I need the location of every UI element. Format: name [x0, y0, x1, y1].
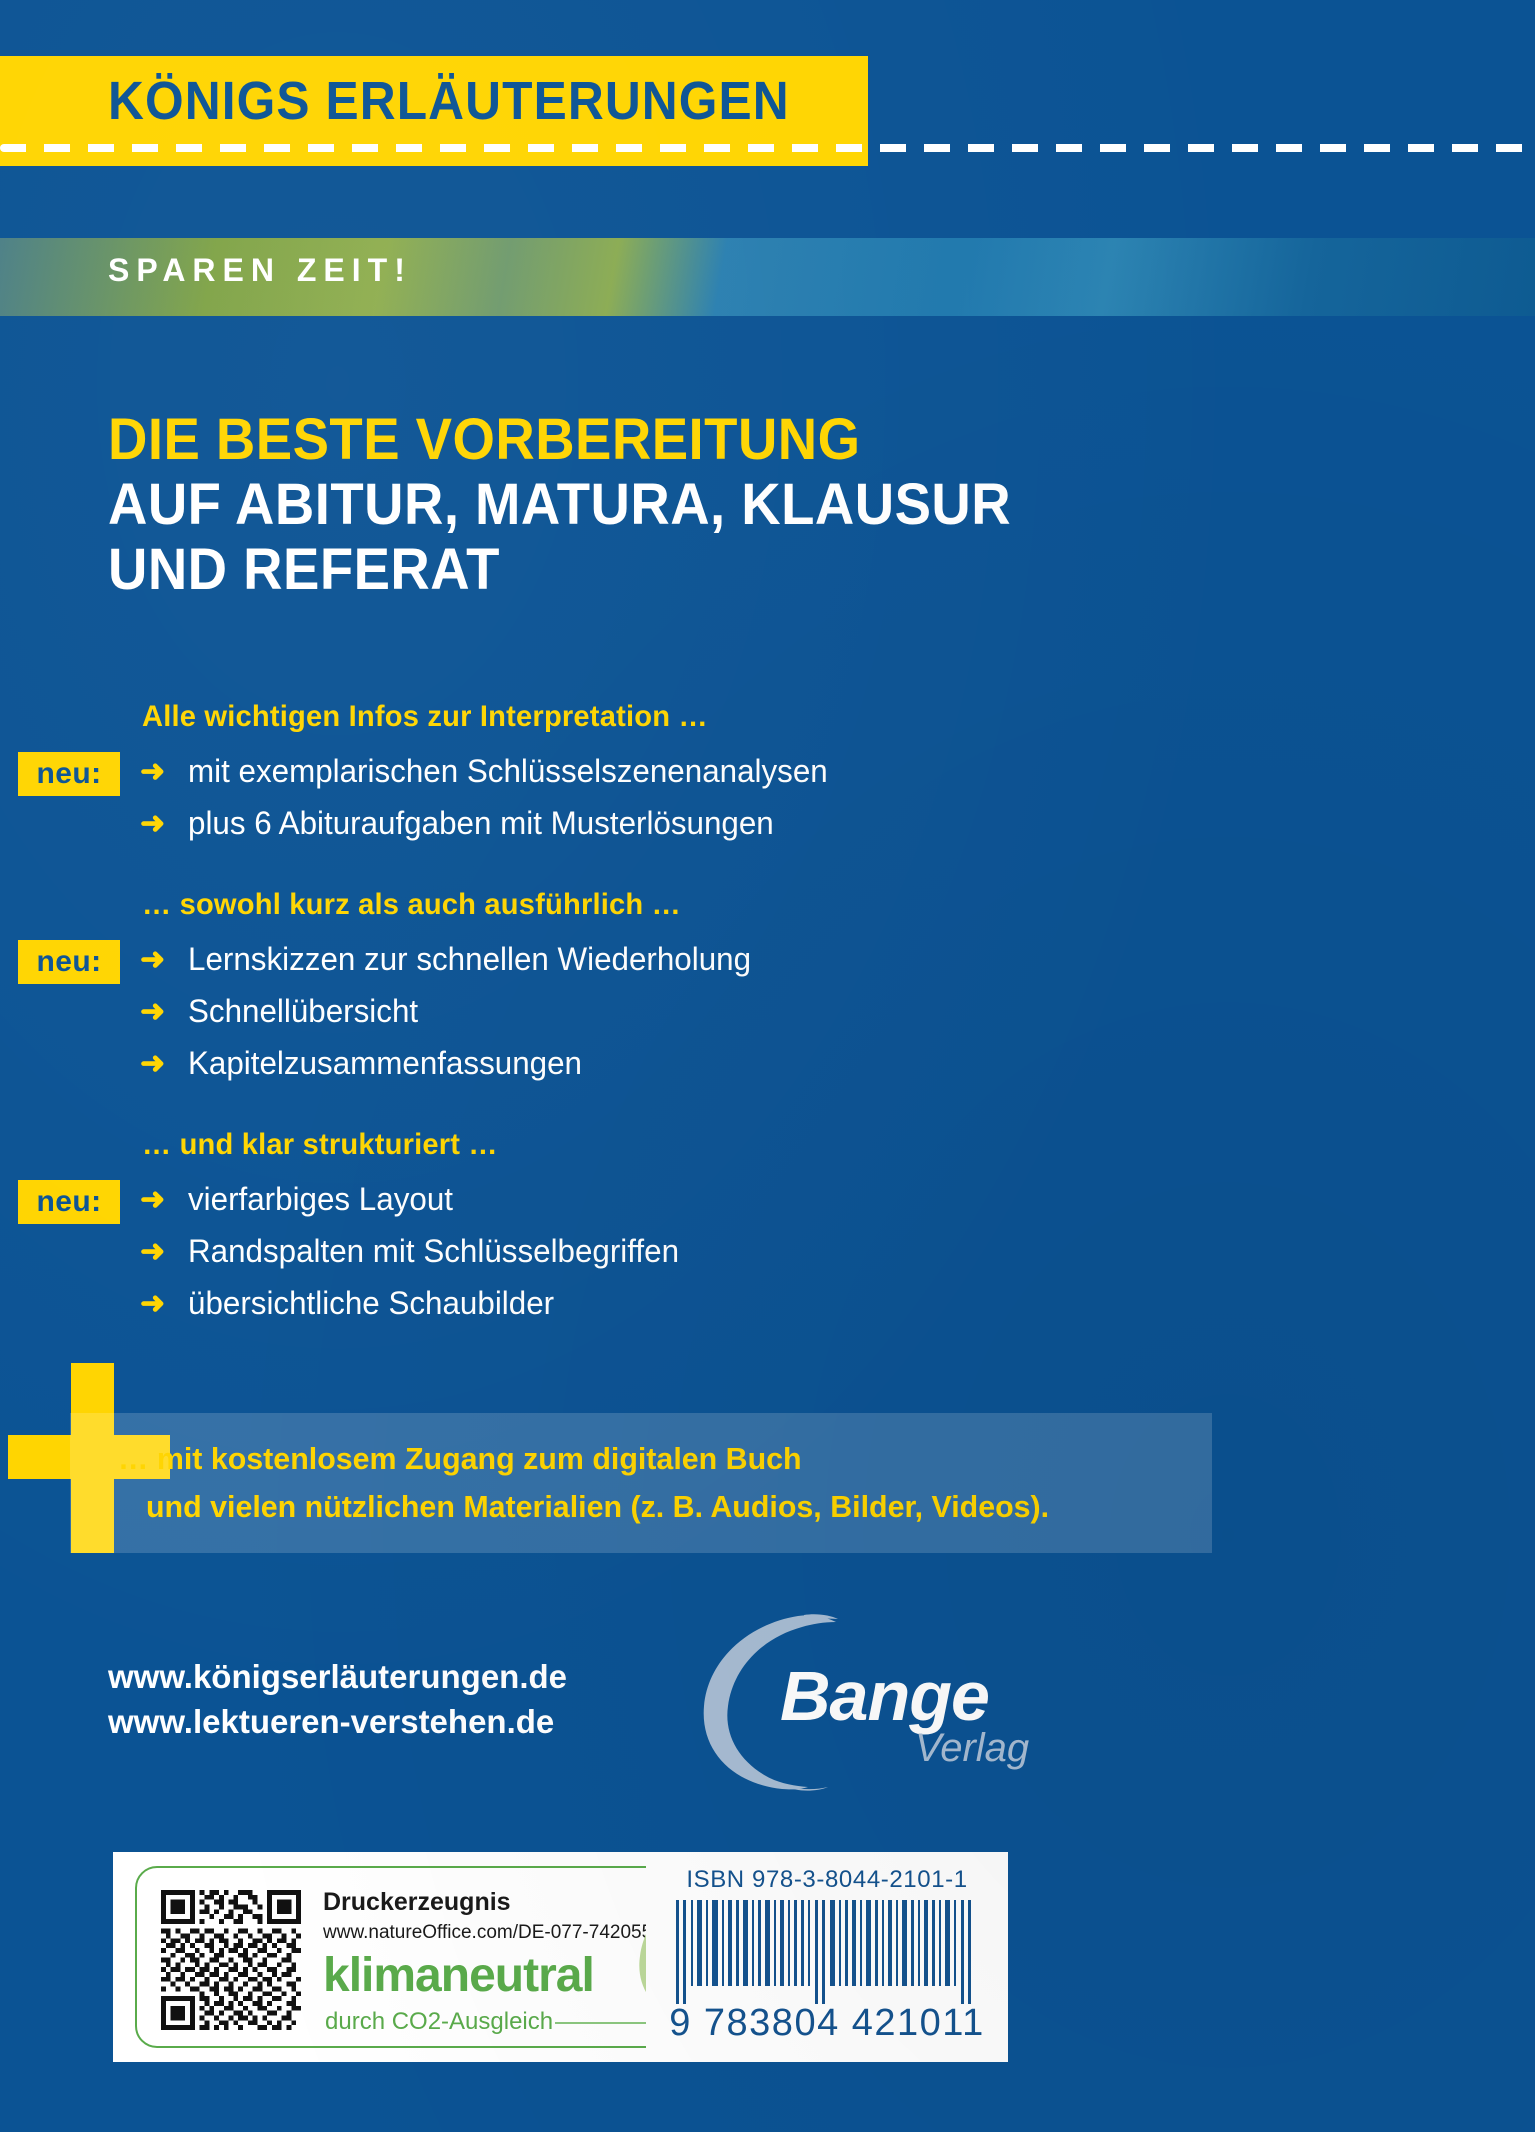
feature-group-title: … sowohl kurz als auch ausführlich … — [142, 888, 1493, 922]
masthead: KÖNIGS ERLÄUTERUNGEN — [0, 56, 1535, 166]
headline-line-2: AUF ABITUR, MATURA, KLAUSUR — [108, 473, 1189, 538]
list-item-label: Randspalten mit Schlüsselbegriffen — [188, 1230, 679, 1272]
arrow-right-icon: ➜ — [140, 1179, 165, 1221]
status-badge: neu: — [18, 752, 120, 796]
isbn-card: ISBN 978-3-8044-2101-1 — [646, 1852, 1008, 2062]
list-item-label: Kapitelzusammenfassungen — [188, 1042, 582, 1084]
eco-title: klimaneutral — [323, 1948, 594, 2003]
eco-subtitle: durch CO2-Ausgleich — [325, 2008, 553, 2036]
barcode-digits: 9 783804 421011 — [646, 2002, 1008, 2045]
digital-access-line-2: und vielen nützlichen Materialien (z. B.… — [146, 1489, 1049, 1525]
feature-group: … und klar strukturiert … neu: ➜ vierfar… — [0, 1128, 1535, 1334]
list-item: ➜ Kapitelzusammenfassungen — [0, 1042, 1535, 1094]
publisher-logo: Bange Verlag — [690, 1600, 1010, 1795]
barcode-icon — [674, 1900, 980, 2004]
page-title: DIE BESTE VORBEREITUNG AUF ABITUR, MATUR… — [108, 408, 1189, 603]
list-item: ➜ Randspalten mit Schlüsselbegriffen — [0, 1230, 1535, 1282]
feature-group-title: Alle wichtigen Infos zur Interpretation … — [142, 700, 1493, 734]
list-item: ➜ plus 6 Abituraufgaben mit Musterlösung… — [0, 802, 1535, 854]
feature-list: Alle wichtigen Infos zur Interpretation … — [0, 700, 1535, 1368]
headline-line-1: DIE BESTE VORBEREITUNG — [108, 408, 1189, 473]
list-item: neu: ➜ Lernskizzen zur schnellen Wiederh… — [0, 938, 1535, 990]
list-item: ➜ Schnellübersicht — [0, 990, 1535, 1042]
website-links: www.königserläuterungen.de www.lektueren… — [108, 1655, 567, 1744]
qr-code-icon[interactable] — [161, 1890, 301, 2030]
arrow-right-icon: ➜ — [140, 751, 165, 793]
headline-line-3: UND REFERAT — [108, 538, 1189, 603]
list-item-label: mit exemplarischen Schlüsselszenenanalys… — [188, 750, 828, 792]
list-item-label: Schnellübersicht — [188, 990, 418, 1032]
list-item-label: vierfarbiges Layout — [188, 1178, 453, 1220]
list-item: neu: ➜ mit exemplarischen Schlüsselszene… — [0, 750, 1535, 802]
website-link-koenigserlaeuterungen[interactable]: www.königserläuterungen.de — [108, 1655, 567, 1700]
status-badge: neu: — [18, 940, 120, 984]
list-item: neu: ➜ vierfarbiges Layout — [0, 1178, 1535, 1230]
list-item-label: übersichtliche Schaubilder — [188, 1282, 554, 1324]
feature-group-title: … und klar strukturiert … — [142, 1128, 1493, 1162]
website-link-lektueren-verstehen[interactable]: www.lektueren-verstehen.de — [108, 1700, 567, 1745]
digital-access-line-1: … mit kostenlosem Zugang zum digitalen B… — [118, 1441, 802, 1477]
arrow-right-icon: ➜ — [140, 1283, 165, 1325]
eco-heading: Druckerzeugnis — [323, 1888, 511, 1917]
publisher-name: Bange — [780, 1656, 989, 1736]
arrow-right-icon: ➜ — [140, 991, 165, 1033]
list-item-label: plus 6 Abituraufgaben mit Musterlösungen — [188, 802, 774, 844]
arrow-right-icon: ➜ — [140, 939, 165, 981]
digital-access-callout: … mit kostenlosem Zugang zum digitalen B… — [70, 1413, 1212, 1553]
publisher-suffix: Verlag — [915, 1726, 1029, 1771]
list-item: ➜ übersichtliche Schaubilder — [0, 1282, 1535, 1334]
feature-group: Alle wichtigen Infos zur Interpretation … — [0, 700, 1535, 854]
feature-group: … sowohl kurz als auch ausführlich … neu… — [0, 888, 1535, 1094]
isbn-label: ISBN 978-3-8044-2101-1 — [646, 1866, 1008, 1894]
masthead-title: KÖNIGS ERLÄUTERUNGEN — [108, 70, 790, 132]
status-badge: neu: — [18, 1180, 120, 1224]
list-item-label: Lernskizzen zur schnellen Wiederholung — [188, 938, 751, 980]
dashed-divider-icon — [0, 144, 1535, 152]
arrow-right-icon: ➜ — [140, 803, 165, 845]
arrow-right-icon: ➜ — [140, 1043, 165, 1085]
arrow-right-icon: ➜ — [140, 1231, 165, 1273]
book-back-cover: KÖNIGS ERLÄUTERUNGEN SPAREN ZEIT! DIE BE… — [0, 0, 1535, 2132]
accent-band-text: SPAREN ZEIT! — [108, 252, 412, 289]
